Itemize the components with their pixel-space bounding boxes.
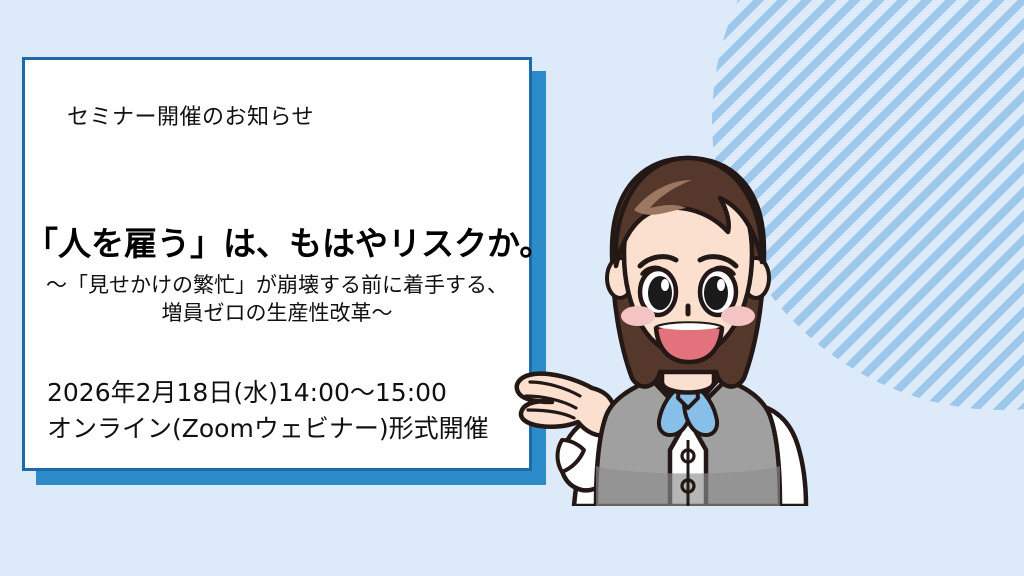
presenter-mouth <box>656 323 722 362</box>
vest-button-lower <box>682 480 694 492</box>
vest-button-upper <box>682 450 694 462</box>
slide-canvas: セミナー開催のお知らせ 「人を雇う」は、もはやリスクか。 〜「見せかけの繁忙」が… <box>0 0 1024 576</box>
presenter-blouse <box>574 382 800 506</box>
announcement-card-content: セミナー開催のお知らせ 「人を雇う」は、もはやリスクか。 〜「見せかけの繁忙」が… <box>25 60 529 468</box>
presenter-illustration <box>500 150 860 576</box>
presenter-right-arm <box>756 406 806 506</box>
presenter-collar <box>640 376 736 430</box>
presenter-vest <box>596 380 780 506</box>
presenter-eyebrows <box>640 257 736 266</box>
presenter-cheeks <box>621 306 755 326</box>
hair-highlight <box>634 180 692 215</box>
presenter-back-hair <box>612 158 764 387</box>
event-format: オンライン(Zoomウェビナー)形式開催 <box>47 411 489 447</box>
subheadline-line-2: 増員ゼロの生産性改革〜 <box>25 300 529 328</box>
announcement-card: セミナー開催のお知らせ 「人を雇う」は、もはやリスクか。 〜「見せかけの繁忙」が… <box>22 57 532 471</box>
presenter-eyes <box>640 267 736 315</box>
event-datetime: 2026年2月18日(水)14:00〜15:00 <box>47 375 489 411</box>
presenter-face <box>624 168 752 356</box>
presenter-ears <box>607 258 769 298</box>
striped-circle-decoration <box>712 0 1024 410</box>
event-details: 2026年2月18日(水)14:00〜15:00 オンライン(Zoomウェビナー… <box>47 375 489 448</box>
announcement-kicker: セミナー開催のお知らせ <box>67 105 314 131</box>
presenter-hair <box>616 158 762 266</box>
presenter-neck <box>662 346 714 393</box>
subheadline-line-1: 〜「見せかけの繁忙」が崩壊する前に着手する、 <box>25 272 529 300</box>
presenter-left-arm <box>558 408 618 490</box>
announcement-subheadline: 〜「見せかけの繁忙」が崩壊する前に着手する、 増員ゼロの生産性改革〜 <box>25 272 529 327</box>
presenter-ribbon-tie <box>659 376 717 435</box>
announcement-headline: 「人を雇う」は、もはやリスクか。 <box>25 225 529 264</box>
